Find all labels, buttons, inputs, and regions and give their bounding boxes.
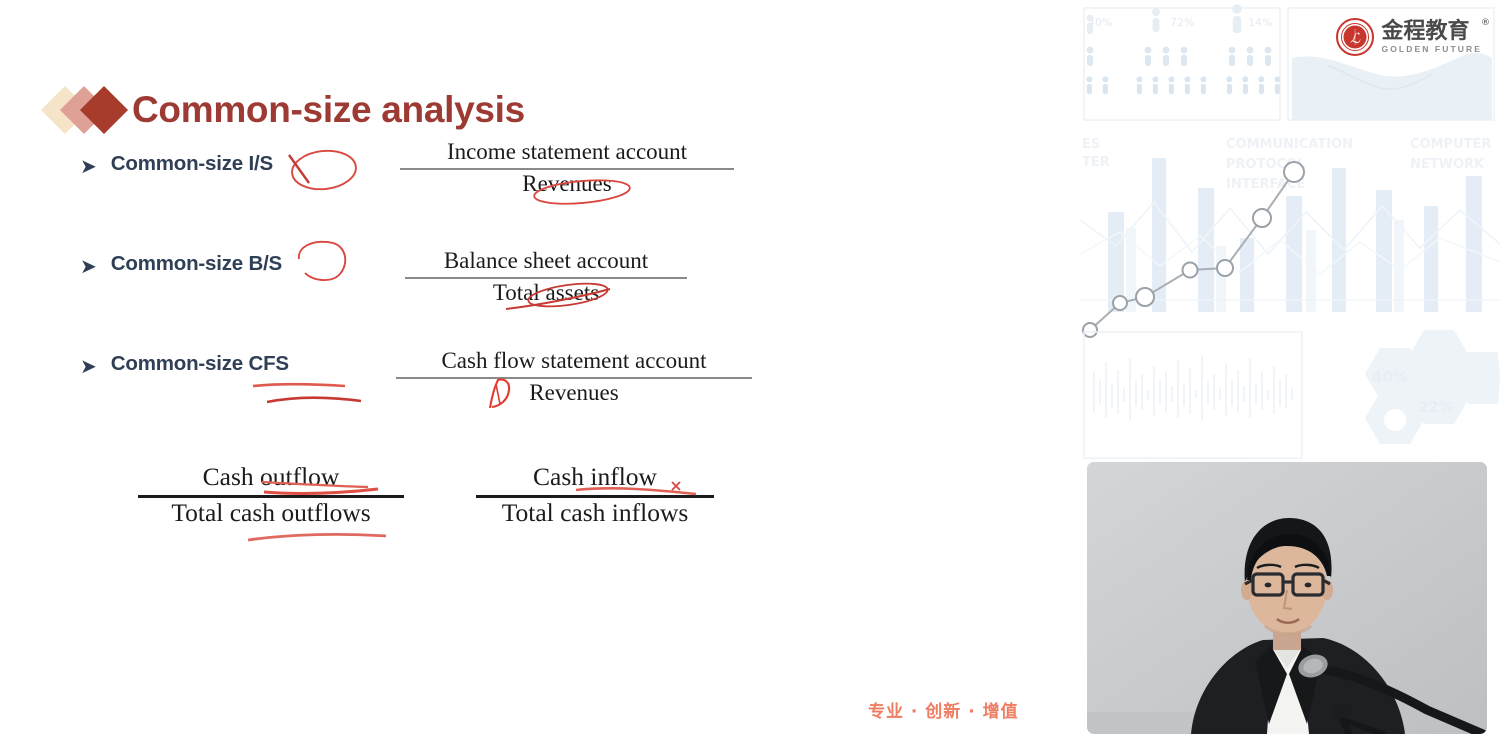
fraction-cash-outflow: Cash outflow Total cash outflows [138, 463, 404, 527]
background-infographic: 40% 72% 14% [1080, 0, 1500, 460]
right-panel: 40% 72% 14% [1080, 0, 1500, 750]
bullet-label-cash-flow: Common-size CFS [111, 352, 289, 376]
svg-text:NETWORK: NETWORK [1410, 157, 1485, 172]
fraction-denominator: Total assets [405, 280, 687, 306]
fraction-bar [400, 168, 734, 170]
svg-text:ES: ES [1082, 137, 1100, 152]
brand-logo: ℒ 金程教育® GOLDEN FUTURE [1336, 18, 1483, 56]
annotation-underline-total-cash-outflows [244, 528, 392, 546]
diamond-bullet-decoration [48, 86, 132, 134]
annotation-circle-b-s [291, 237, 353, 285]
bullet-row-balance-sheet: ➤ Common-size B/S [80, 252, 282, 276]
svg-text:14%: 14% [1248, 16, 1272, 29]
brand-text-block: 金程教育® GOLDEN FUTURE [1382, 20, 1483, 54]
fraction-denominator: Revenues [396, 380, 752, 406]
footer-slogan: 专业 · 创新 · 增值 [868, 697, 1019, 722]
fraction-cash-inflow: Cash inflow Total cash inflows [476, 463, 714, 527]
brand-name-en: GOLDEN FUTURE [1382, 44, 1483, 54]
page-title: Common-size analysis [132, 89, 525, 131]
annotation-circle-i-s [283, 143, 363, 197]
brand-name-cn-text: 金程教育 [1382, 19, 1470, 44]
fraction-numerator: Cash flow statement account [396, 348, 752, 374]
arrow-bullet-icon: ➤ [80, 256, 97, 276]
svg-text:72%: 72% [1170, 16, 1194, 29]
svg-text:TER: TER [1082, 155, 1110, 170]
svg-text:22%: 22% [1418, 398, 1454, 416]
fraction-numerator: Cash outflow [138, 463, 404, 492]
seal-icon: ℒ [1336, 18, 1374, 56]
svg-text:COMPUTER: COMPUTER [1410, 137, 1491, 152]
fraction-cash-flow: Cash flow statement account Revenues [396, 348, 752, 406]
fraction-numerator: Cash inflow [476, 463, 714, 492]
fraction-denominator: Total cash outflows [138, 499, 404, 528]
svg-text:40%: 40% [1372, 368, 1408, 386]
slide-title-row: Common-size analysis [48, 84, 525, 136]
fraction-bar [396, 377, 752, 379]
fraction-denominator: Revenues [400, 171, 734, 197]
brand-name-cn: 金程教育® [1382, 20, 1483, 43]
annotation-double-underline-cfs [235, 378, 375, 412]
fraction-balance-sheet: Balance sheet account Total assets [405, 248, 687, 306]
fraction-income-statement: Income statement account Revenues [400, 139, 734, 197]
bullet-row-cash-flow: ➤ Common-size CFS [80, 352, 289, 376]
bullet-label-balance-sheet: Common-size B/S [111, 252, 282, 276]
bullet-row-income-statement: ➤ Common-size I/S [80, 152, 273, 176]
presentation-slide: Common-size analysis ➤ Common-size I/S I… [0, 0, 1080, 750]
svg-text:COMMUNICATION: COMMUNICATION [1226, 137, 1353, 152]
slide-screenshot: Common-size analysis ➤ Common-size I/S I… [0, 0, 1500, 750]
bullet-label-income-statement: Common-size I/S [111, 152, 273, 176]
arrow-bullet-icon: ➤ [80, 356, 97, 376]
arrow-bullet-icon: ➤ [80, 156, 97, 176]
registered-mark: ® [1481, 19, 1490, 28]
presenter-video-feed[interactable] [1087, 462, 1487, 734]
fraction-bar [405, 277, 687, 279]
fraction-numerator: Income statement account [400, 139, 734, 165]
svg-text:ℒ: ℒ [1349, 31, 1360, 47]
fraction-denominator: Total cash inflows [476, 499, 714, 528]
fraction-numerator: Balance sheet account [405, 248, 687, 274]
